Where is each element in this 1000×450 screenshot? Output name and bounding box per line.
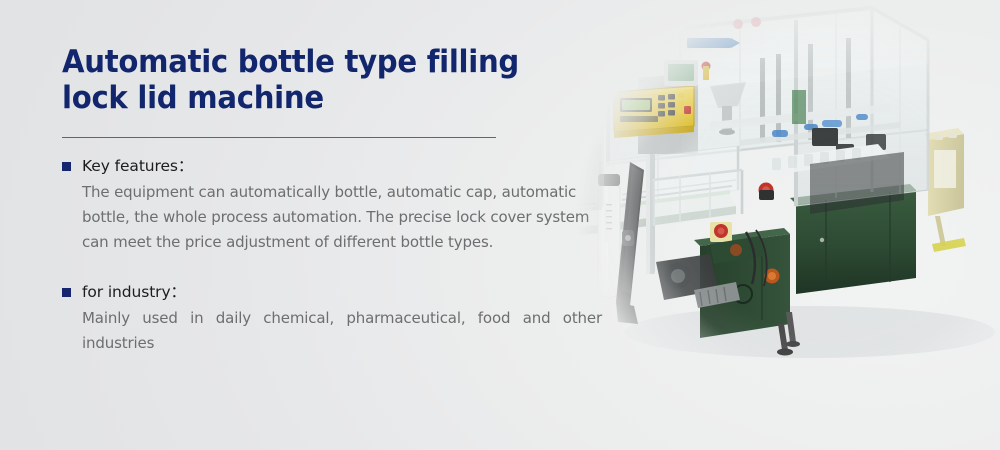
text-column: Automatic bottle type filling lock lid m… [62, 44, 607, 356]
feature-block-for-industry: for industry： Mainly used in daily chemi… [62, 283, 607, 356]
feature-heading-row: Key features： [62, 157, 607, 175]
machine-illustration [560, 0, 1000, 450]
square-bullet-icon [62, 288, 71, 297]
front-guard-frame [652, 170, 742, 226]
page-title: Automatic bottle type filling lock lid m… [62, 44, 574, 116]
feature-heading-label: for industry： [82, 283, 186, 301]
feature-heading-row: for industry： [62, 283, 607, 301]
background-machine-hint [564, 84, 604, 210]
square-bullet-icon [62, 162, 71, 171]
feature-body-text: Mainly used in daily chemical, pharmaceu… [82, 306, 602, 356]
outfeed-unit [924, 128, 966, 252]
product-banner: Automatic bottle type filling lock lid m… [0, 0, 1000, 450]
feature-body-text: The equipment can automatically bottle, … [82, 180, 602, 255]
product-photo [560, 0, 1000, 450]
title-divider [62, 137, 496, 138]
feature-heading-label: Key features： [82, 157, 193, 175]
feature-block-key-features: Key features： The equipment can automati… [62, 157, 607, 255]
